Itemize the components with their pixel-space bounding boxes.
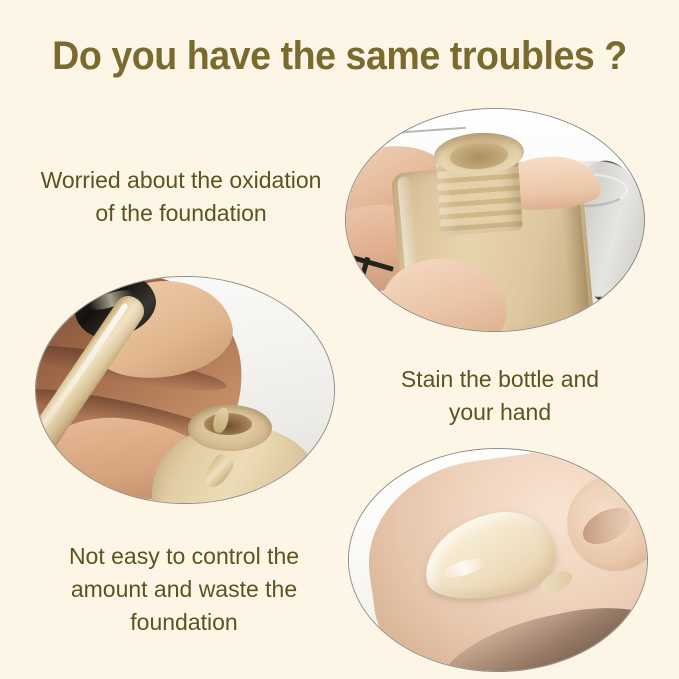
caption-waste: Not easy to control the amount and waste… bbox=[14, 540, 354, 639]
caption-stain: Stain the bottle and your hand bbox=[340, 363, 660, 429]
photo-dropper bbox=[35, 276, 335, 504]
caption-oxidation: Worried about the oxidation of the found… bbox=[6, 164, 356, 230]
page-title: Do you have the same troubles ? bbox=[20, 34, 658, 79]
photo-bottle-neck bbox=[345, 108, 645, 332]
infographic-canvas: Do you have the same troubles ? Worried … bbox=[0, 0, 679, 679]
photo-dropper-content bbox=[36, 277, 334, 503]
photo-bottle-neck-content bbox=[346, 109, 644, 331]
photo-cream-content bbox=[349, 449, 647, 671]
photo-cream bbox=[348, 448, 648, 672]
